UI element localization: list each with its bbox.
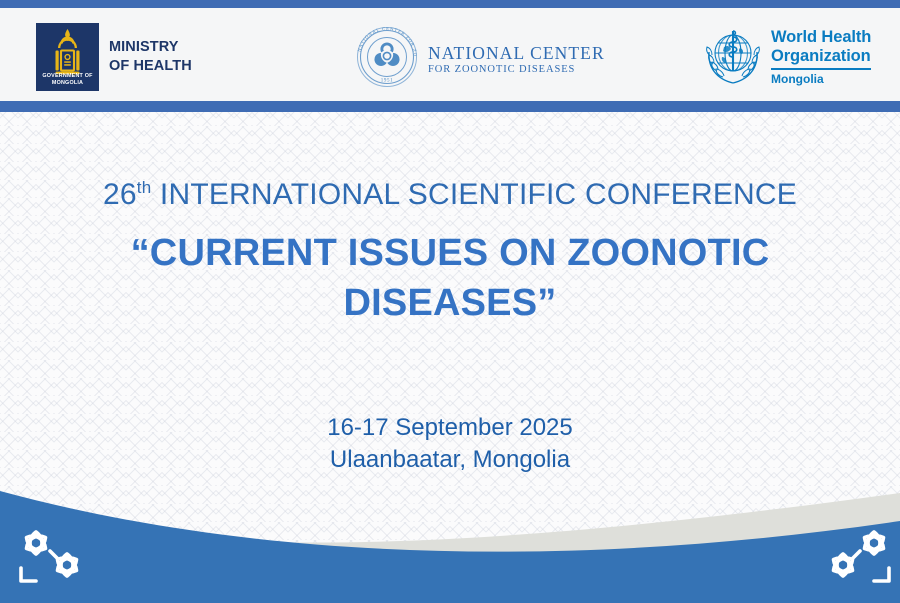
top-accent-bar [0, 0, 900, 8]
ministry-name-line-2: OF HEALTH [109, 57, 192, 76]
who-wordmark: World Health Organization Mongolia [771, 26, 871, 86]
ministry-name-line-1: MINISTRY [109, 38, 192, 57]
biohazard-seal-icon: NATIONAL CENTER FOR ZOONOTIC DISEASES 19… [352, 22, 422, 97]
header-separator-rule [0, 101, 900, 112]
national-center-name: NATIONAL CENTER FOR ZOONOTIC DISEASES [428, 43, 605, 77]
who-name-line-1: World Health [771, 28, 871, 47]
page-title: “CURRENT ISSUES ON ZOONOTIC DISEASES” [60, 228, 840, 328]
mongolian-ulzii-knot-icon [12, 521, 98, 591]
conference-title-slide: GOVERNMENT OF MONGOLIA MINISTRY OF HEALT… [0, 0, 900, 603]
national-center-name-line-1: NATIONAL CENTER [428, 43, 605, 63]
national-center-name-line-2: FOR ZOONOTIC DISEASES [428, 63, 605, 77]
event-dates: 16-17 September 2025 [0, 412, 900, 444]
who-name-line-2: Organization [771, 47, 871, 66]
ministry-of-health-logo: GOVERNMENT OF MONGOLIA MINISTRY OF HEALT… [36, 23, 192, 91]
ministry-emblem-caption: GOVERNMENT OF MONGOLIA [36, 73, 99, 87]
national-center-logo: NATIONAL CENTER FOR ZOONOTIC DISEASES 19… [352, 22, 605, 97]
svg-text:NATIONAL CENTER FOR ZOONOTIC D: NATIONAL CENTER FOR ZOONOTIC DISEASES [352, 22, 418, 57]
conference-heading-label: INTERNATIONAL SCIENTIFIC CONFERENCE [160, 178, 797, 211]
who-underline-rule [771, 68, 871, 70]
conference-ordinal-suffix: th [137, 178, 152, 197]
conference-ordinal-number: 26 [103, 178, 137, 211]
who-logo: World Health Organization Mongolia [702, 26, 871, 93]
bottom-wave-decoration [0, 455, 900, 603]
who-globe-asclepius-icon [702, 26, 764, 93]
mongolia-soyombo-emblem-icon: GOVERNMENT OF MONGOLIA [36, 23, 99, 91]
conference-heading: 26th INTERNATIONAL SCIENTIFIC CONFERENCE [0, 176, 900, 214]
who-country-label: Mongolia [771, 73, 871, 86]
seal-year: 1951 [381, 79, 393, 84]
ministry-of-health-name: MINISTRY OF HEALTH [109, 38, 192, 76]
mongolian-ulzii-knot-icon-mirrored [812, 521, 898, 591]
logo-row: GOVERNMENT OF MONGOLIA MINISTRY OF HEALT… [0, 8, 900, 101]
